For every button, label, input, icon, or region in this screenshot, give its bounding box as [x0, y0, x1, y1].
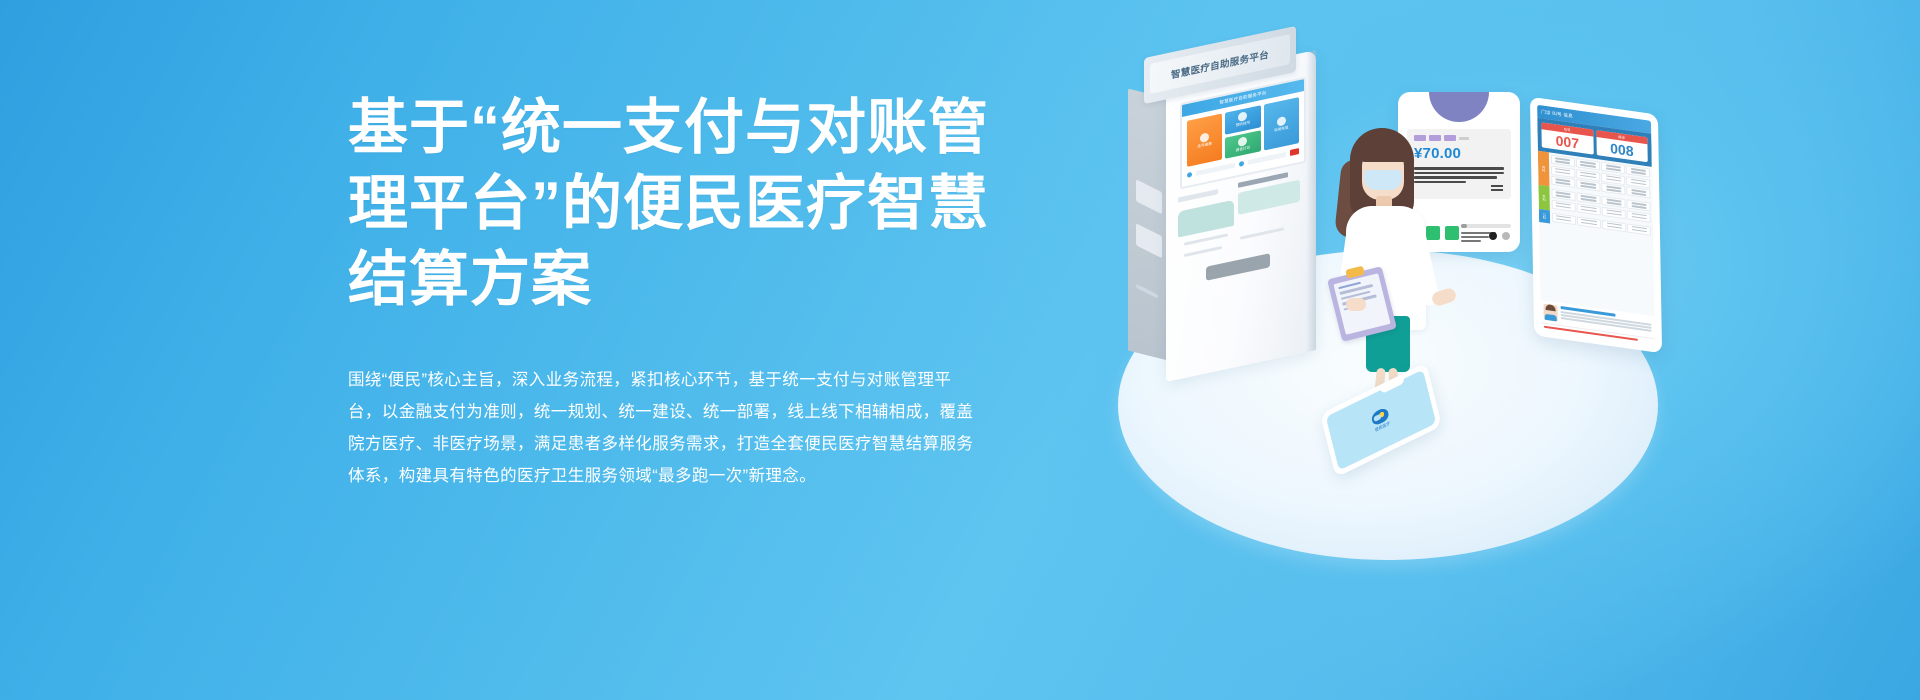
queue-card-header-label: 候诊 [1618, 134, 1625, 140]
queue-cell-line [1555, 171, 1570, 175]
queue-card-header-label: 叫号 [1564, 126, 1571, 132]
terminal-slider-knob[interactable] [1461, 224, 1467, 228]
kiosk-header-text: 智慧医疗自助服务平台 [1171, 47, 1269, 82]
face-mask-icon [1364, 170, 1402, 190]
queue-cell-line [1581, 174, 1596, 178]
queue-cell-line [1631, 181, 1646, 185]
card-icon [1239, 160, 1244, 166]
avatar [1544, 304, 1558, 322]
queue-section-tag: 外科 [1538, 185, 1549, 210]
kiosk-tile-registration[interactable]: 挂号缴费 [1187, 113, 1222, 167]
description-line-4: 体系，构建具有特色的医疗卫生服务领域“最多跑一次”新理念。 [348, 460, 1078, 492]
terminal-led-group [1489, 232, 1510, 240]
queue-calling-card: 叫号 007 [1541, 122, 1593, 154]
page-title: 基于“统一支付与对账管 理平台”的便民医疗智慧 结算方案 [348, 90, 1088, 318]
app-logo: 便民医疗 [1370, 406, 1391, 434]
queue-cell [1552, 199, 1576, 211]
kiosk-tile-label: 挂号缴费 [1197, 141, 1211, 149]
description-line-1: 围绕“便民”核心主旨，深入业务流程，紧扣核心环节，基于统一支付与对账管理平 [348, 364, 1078, 396]
description-line-3: 院方医疗、非医疗场景，满足患者多样化服务需求，打造全套便民医疗智慧结算服务 [348, 428, 1078, 460]
queue-section-label: 内科 [1541, 165, 1546, 172]
queue-cell [1602, 219, 1626, 231]
terminal-slider[interactable] [1461, 224, 1511, 228]
doctor-figure [1328, 120, 1458, 420]
card-icon [1187, 171, 1192, 177]
queue-section-label: 儿科 [1542, 212, 1547, 219]
queue-cell-line [1556, 218, 1571, 222]
kiosk-side-pad [1136, 223, 1162, 258]
page-title-line-3: 结算方案 [348, 242, 1088, 318]
queue-cell-line [1632, 229, 1647, 233]
hero-description: 围绕“便民”核心主旨，深入业务流程，紧扣核心环节，基于统一支付与对账管理平 台，… [348, 364, 1078, 492]
queue-cell [1627, 186, 1651, 198]
queue-cell-line [1606, 178, 1621, 182]
queue-section-label: 外科 [1542, 194, 1547, 201]
queue-cell [1552, 212, 1576, 224]
queue-cell [1627, 210, 1651, 222]
queue-cell-line [1581, 222, 1596, 226]
queue-cell [1551, 176, 1575, 188]
kiosk-tile-appointment[interactable]: 预约挂号 [1225, 105, 1260, 134]
terminal-status-line [1461, 236, 1489, 238]
queue-calling-card: 候诊 008 [1596, 130, 1648, 162]
terminal-led-off [1502, 232, 1510, 240]
kiosk-tile-column: 预约挂号 报告打印 [1225, 105, 1260, 159]
receipt-corner-mark [1491, 185, 1503, 192]
queue-cell [1627, 199, 1651, 211]
page-title-line-1: 基于“统一支付与对账管 [348, 90, 1088, 166]
kiosk-tile-label: 预约挂号 [1236, 121, 1250, 129]
queue-cell-line [1581, 208, 1596, 212]
queue-cell [1627, 223, 1651, 235]
queue-cell-line [1606, 212, 1621, 216]
queue-cell [1602, 206, 1626, 218]
queue-cell-line [1556, 205, 1571, 209]
kiosk-tile-column: 挂号缴费 [1187, 113, 1222, 167]
queue-section-tag: 内科 [1538, 151, 1550, 187]
queue-board-title: 门诊 叫号 信息 [1541, 109, 1573, 119]
kiosk-tile-recharge[interactable]: 自助充值 [1264, 97, 1299, 151]
bank-logo-icon [1290, 148, 1299, 156]
queue-cell [1601, 183, 1625, 195]
hero-text-block: 基于“统一支付与对账管 理平台”的便民医疗智慧 结算方案 围绕“便民”核心主旨，… [348, 90, 1088, 492]
left-hand [1346, 298, 1366, 311]
kiosk-tile-label: 报告打印 [1236, 145, 1250, 153]
queue-display-board: 门诊 叫号 信息 叫号 007 候诊 008 内科 [1530, 97, 1662, 354]
terminal-led-on [1489, 232, 1497, 240]
hero-banner: 基于“统一支付与对账管 理平台”的便民医疗智慧 结算方案 围绕“便民”核心主旨，… [0, 0, 1920, 700]
queue-section-tag: 儿科 [1539, 208, 1550, 223]
hair-bangs [1358, 136, 1410, 162]
kiosk-tile-label: 自助充值 [1274, 125, 1288, 133]
terminal-status-line [1461, 240, 1481, 242]
kiosk-tile-report[interactable]: 报告打印 [1225, 130, 1260, 159]
hero-illustration: 智慧医疗自助服务平台 智慧医疗自助服务平台 挂号缴费 [1100, 20, 1720, 580]
receipt-tag-small [1459, 137, 1469, 140]
description-line-2: 台，以金融支付为准则，统一规划、统一建设、统一部署，线上线下相辅相成，覆盖 [348, 396, 1078, 428]
kiosk-side-line [1136, 284, 1158, 299]
queue-cell [1576, 179, 1600, 191]
kiosk-side-pad [1136, 179, 1162, 214]
queue-cell [1577, 203, 1601, 215]
queue-cell-line [1631, 216, 1646, 220]
queue-board-rows: 内科 [1538, 151, 1655, 316]
kiosk-tile-column: 自助充值 [1264, 97, 1299, 151]
self-service-kiosk: 智慧医疗自助服务平台 智慧医疗自助服务平台 挂号缴费 [1128, 42, 1358, 372]
queue-cell [1577, 216, 1601, 228]
page-title-line-2: 理平台”的便民医疗智慧 [348, 166, 1088, 242]
queue-cell-line [1606, 225, 1621, 229]
queue-board-screen: 门诊 叫号 信息 叫号 007 候诊 008 内科 [1537, 105, 1655, 346]
